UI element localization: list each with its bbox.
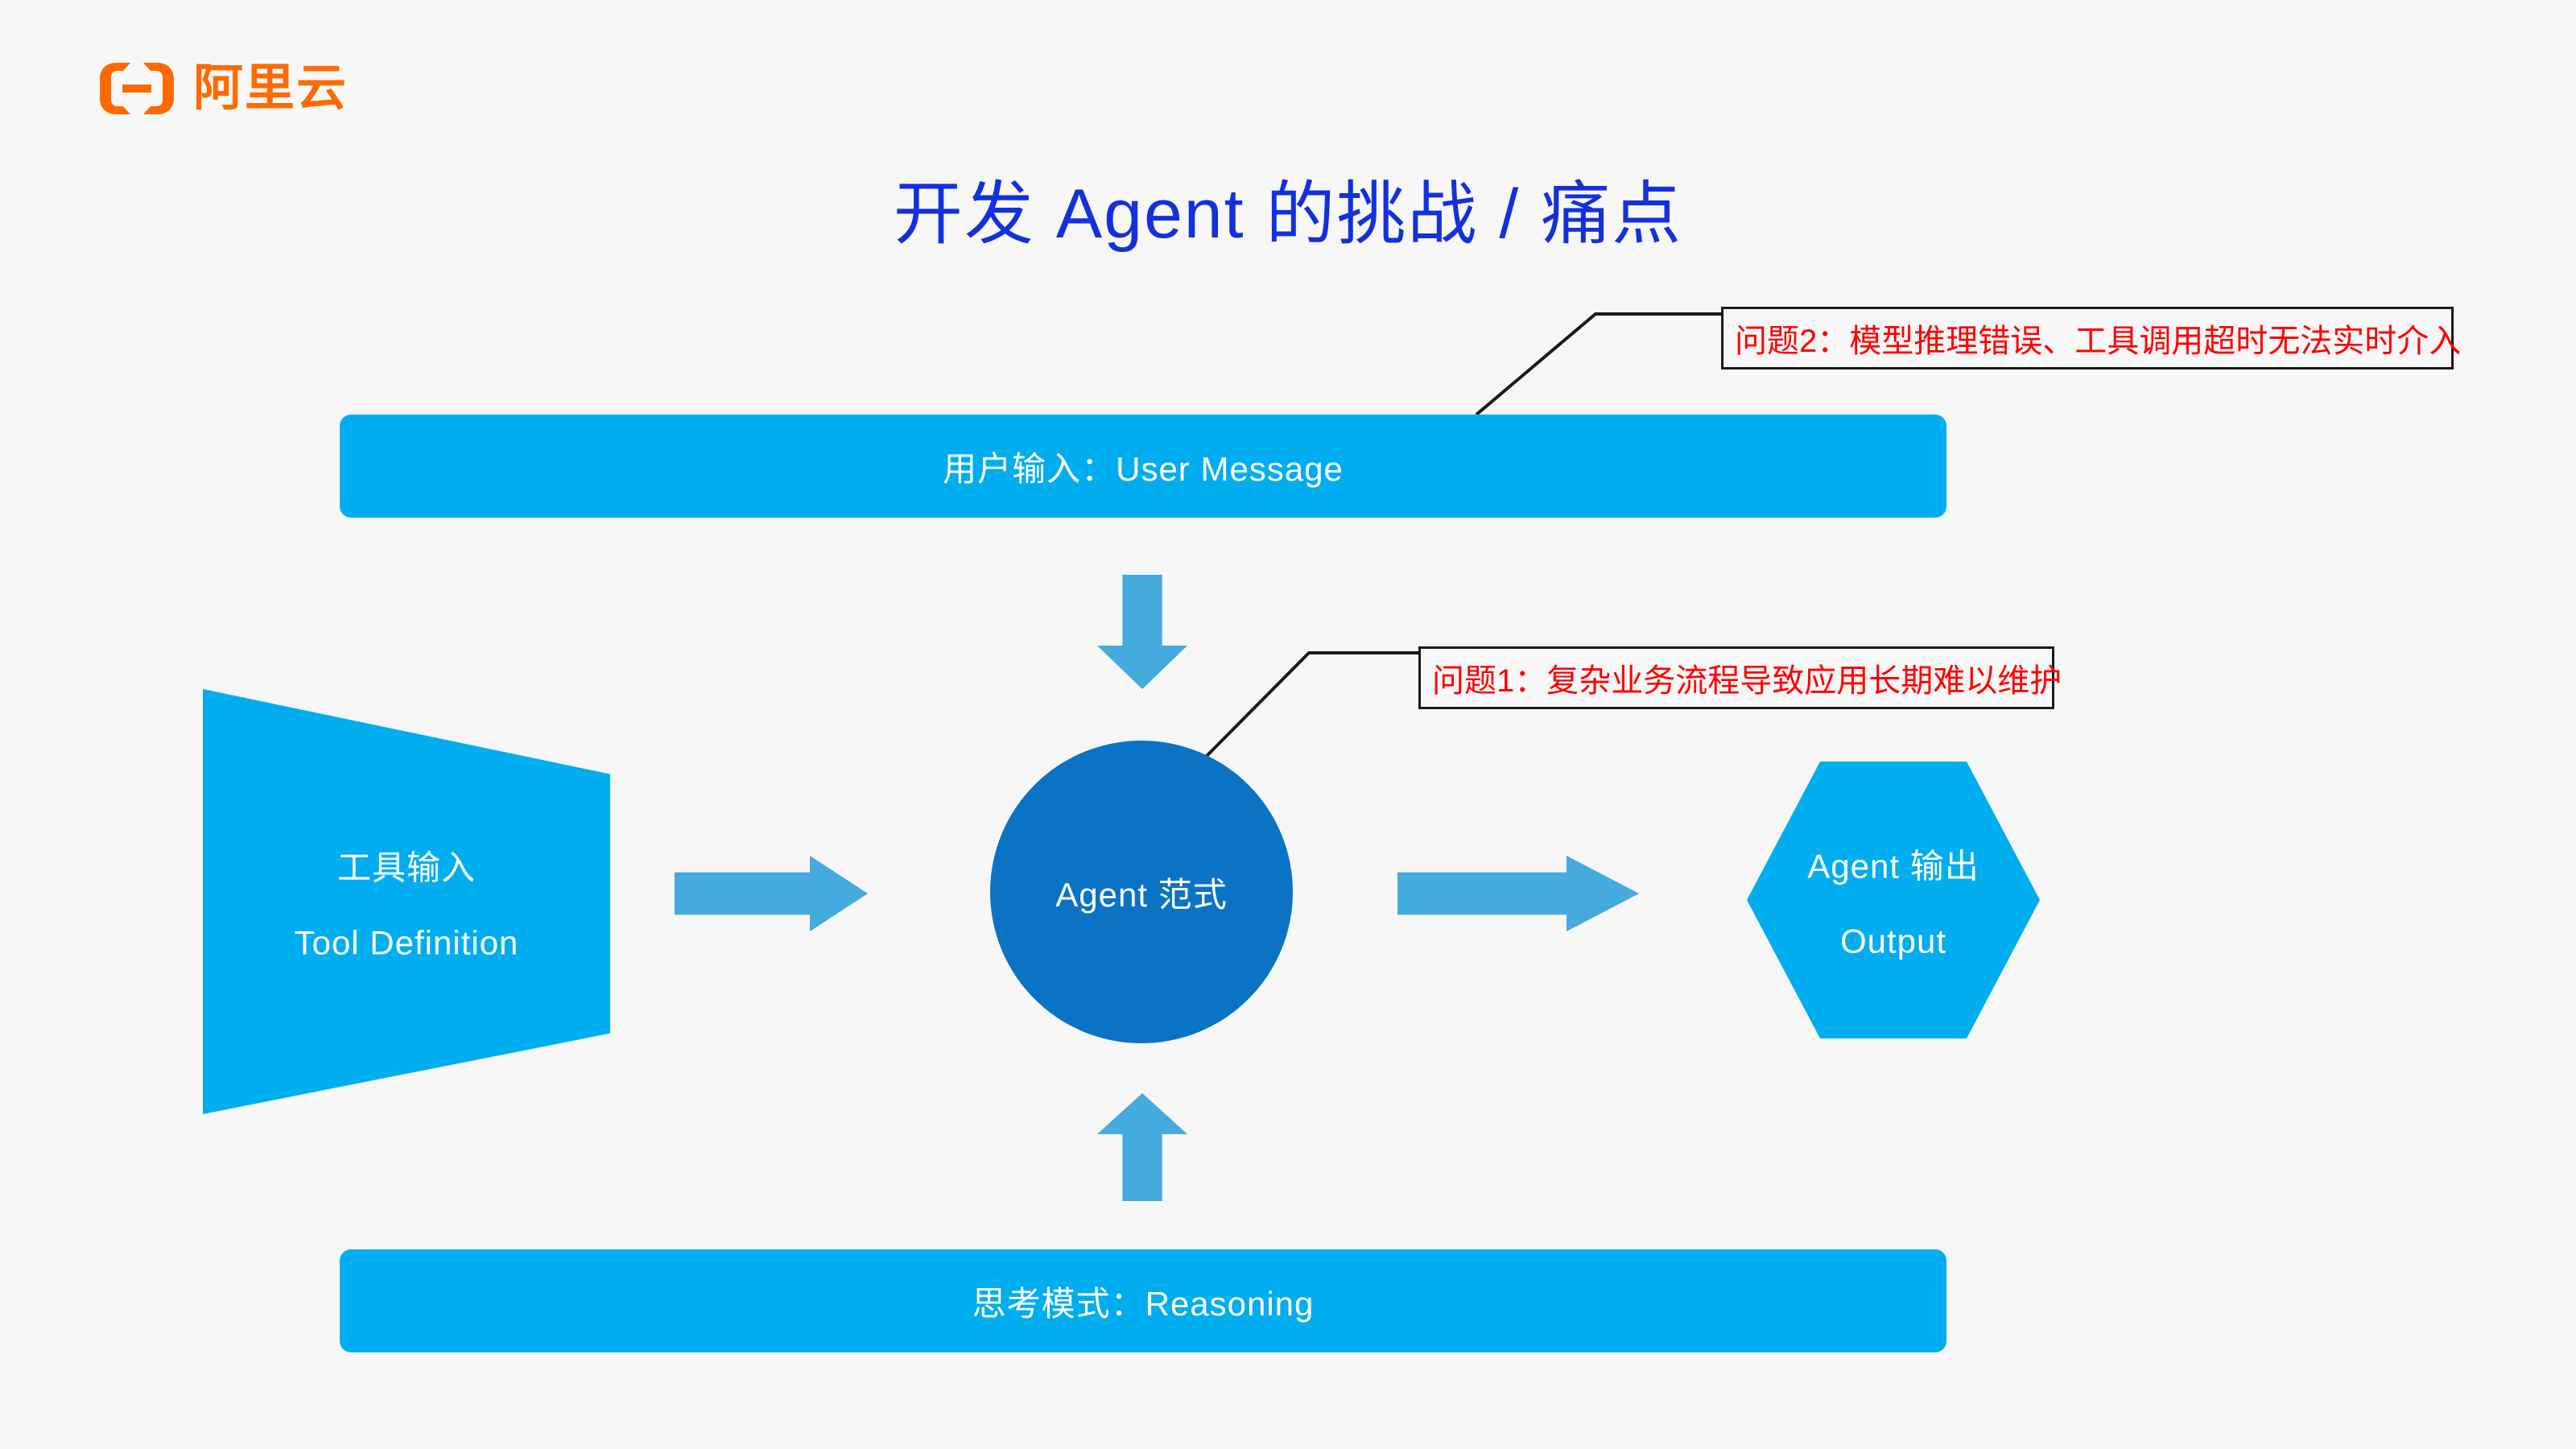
flow-node-reasoning-label: 思考模式：Reasoning [972, 1277, 1315, 1326]
flow-node-agent-output: Agent 输出 Output [1747, 762, 2040, 1038]
slide-canvas: 阿里云 开发 Agent 的挑战 / 痛点 用户输入：User Message … [0, 0, 2576, 1449]
agent-output-line1: Agent 输出 [1747, 840, 2040, 889]
arrow-down-icon-user-to-agent [1097, 575, 1187, 689]
flow-node-agent-output-labels: Agent 输出 Output [1747, 840, 2040, 961]
alibaba-cloud-logo-icon [98, 63, 175, 114]
brand-wordmark: 阿里云 [193, 64, 348, 114]
flow-node-tool-input-labels: 工具输入 Tool Definition [203, 841, 610, 963]
page-title: 开发 Agent 的挑战 / 痛点 [0, 157, 2576, 258]
flow-node-agent-core-label: Agent 范式 [1055, 868, 1227, 917]
callout-problem-1-text: 问题1：复杂业务流程导致应用长期难以维护 [1432, 654, 2062, 701]
callout-problem-2: 问题2：模型推理错误、工具调用超时无法实时介入 [1721, 307, 2454, 369]
callout-problem-2-text: 问题2：模型推理错误、工具调用超时无法实时介入 [1735, 315, 2461, 361]
arrow-up-icon-reasoning-to-agent [1097, 1093, 1187, 1201]
tool-input-line2: Tool Definition [203, 924, 610, 963]
flow-node-user-input-label: 用户输入：User Message [943, 442, 1344, 491]
flow-node-tool-input: 工具输入 Tool Definition [203, 689, 610, 1114]
brand-logo: 阿里云 [98, 63, 348, 114]
agent-output-line2: Output [1747, 923, 2040, 961]
tool-input-line1: 工具输入 [203, 841, 610, 890]
callout-problem-1: 问题1：复杂业务流程导致应用长期难以维护 [1418, 646, 2054, 709]
arrow-right-icon-agent-to-output [1397, 856, 1639, 931]
leader-line-problem-1 [1206, 653, 1418, 757]
flow-node-agent-core: Agent 范式 [990, 741, 1293, 1043]
flow-node-user-input: 用户输入：User Message [340, 415, 1946, 518]
flow-node-reasoning: 思考模式：Reasoning [340, 1249, 1946, 1352]
arrow-right-icon-tool-to-agent [675, 856, 868, 931]
leader-line-problem-2 [1476, 314, 1721, 415]
